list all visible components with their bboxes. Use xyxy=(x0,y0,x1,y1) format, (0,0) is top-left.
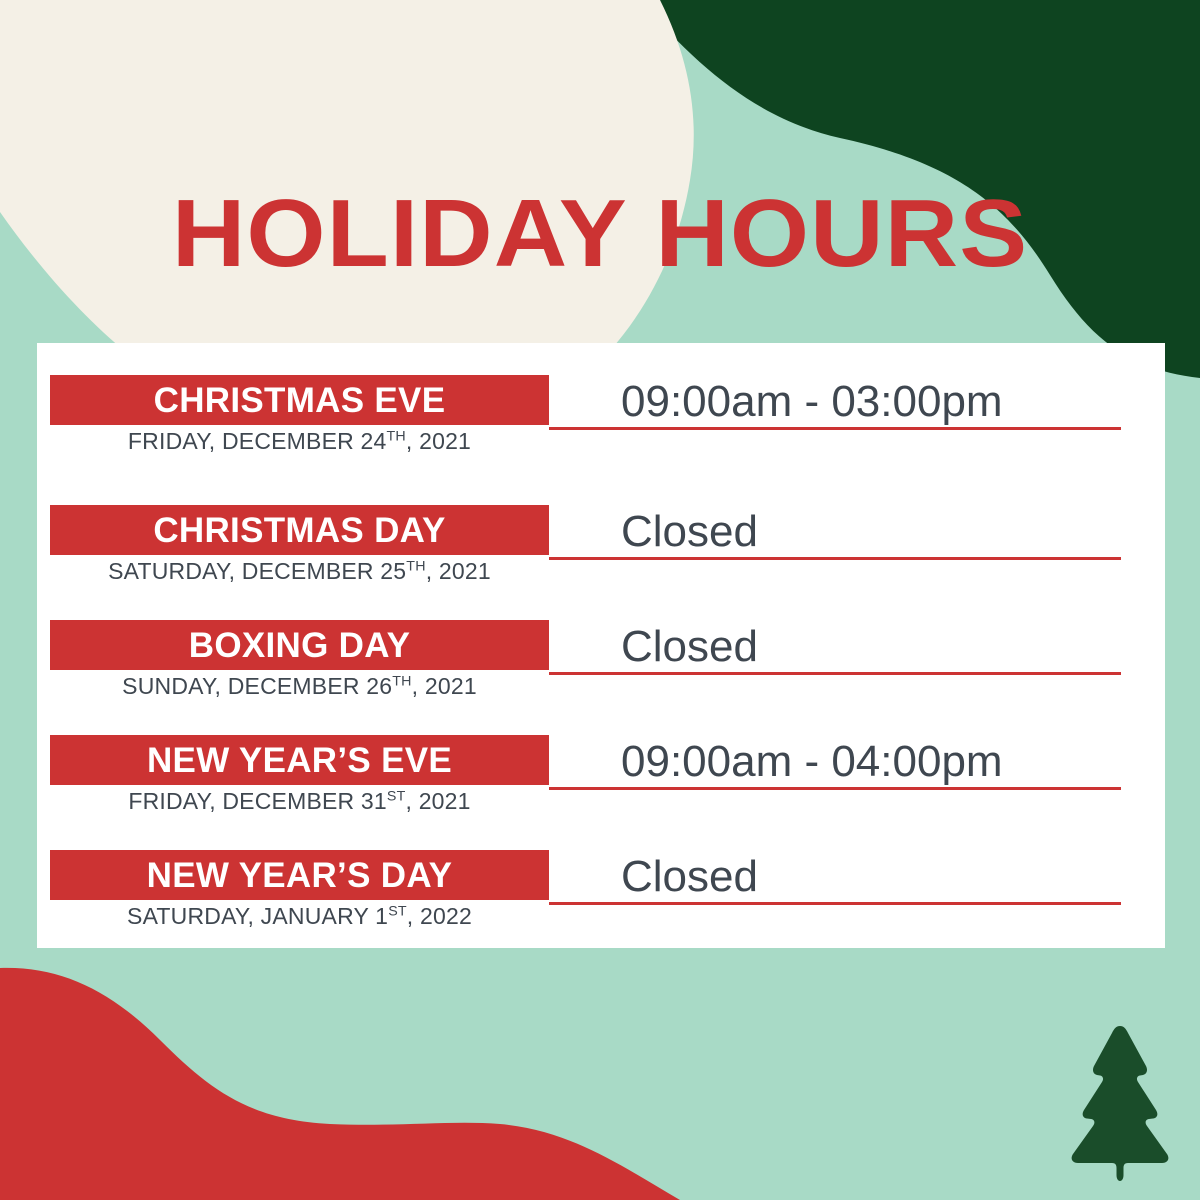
holiday-hours-poster: HOLIDAY HOURS CHRISTMAS EVE FRIDAY, DECE… xyxy=(0,0,1200,1200)
holiday-date-ordinal: ST xyxy=(388,903,407,919)
holiday-name-bar: BOXING DAY xyxy=(50,620,549,670)
holiday-date-ordinal: TH xyxy=(406,558,425,574)
holiday-date-suffix: , 2021 xyxy=(426,558,491,584)
holiday-name-bar: CHRISTMAS EVE xyxy=(50,375,549,425)
holiday-name: CHRISTMAS DAY xyxy=(153,513,445,548)
holiday-date-ordinal: ST xyxy=(387,788,406,804)
christmas-tree-icon xyxy=(1060,1022,1180,1182)
holiday-date: SATURDAY, JANUARY 1ST, 2022 xyxy=(50,902,549,931)
holiday-hours: 09:00am - 03:00pm xyxy=(621,379,1003,425)
holiday-date: FRIDAY, DECEMBER 31ST, 2021 xyxy=(50,787,549,816)
holiday-hours-field: Closed xyxy=(549,620,1121,675)
holiday-name-bar: CHRISTMAS DAY xyxy=(50,505,549,555)
holiday-date-prefix: SATURDAY, JANUARY 1 xyxy=(127,903,388,929)
holiday-hours-field: Closed xyxy=(549,850,1121,905)
holiday-hours-field: 09:00am - 03:00pm xyxy=(549,375,1121,430)
schedule-row: BOXING DAY SUNDAY, DECEMBER 26TH, 2021 C… xyxy=(37,620,1165,730)
holiday-date-prefix: SATURDAY, DECEMBER 25 xyxy=(108,558,406,584)
holiday-date-prefix: SUNDAY, DECEMBER 26 xyxy=(122,673,392,699)
holiday-name: BOXING DAY xyxy=(189,628,410,663)
page-title: HOLIDAY HOURS xyxy=(0,186,1200,282)
holiday-name: NEW YEAR’S EVE xyxy=(147,743,452,778)
holiday-date-ordinal: TH xyxy=(392,673,411,689)
holiday-date: FRIDAY, DECEMBER 24TH, 2021 xyxy=(50,427,549,456)
schedule-rows: CHRISTMAS EVE FRIDAY, DECEMBER 24TH, 202… xyxy=(37,343,1165,948)
holiday-date: SATURDAY, DECEMBER 25TH, 2021 xyxy=(50,557,549,586)
holiday-date-suffix: , 2021 xyxy=(406,788,471,814)
holiday-date-suffix: , 2021 xyxy=(406,428,471,454)
holiday-hours: 09:00am - 04:00pm xyxy=(621,739,1003,785)
holiday-date-suffix: , 2022 xyxy=(407,903,472,929)
holiday-date: SUNDAY, DECEMBER 26TH, 2021 xyxy=(50,672,549,701)
holiday-hours-field: Closed xyxy=(549,505,1121,560)
holiday-date-prefix: FRIDAY, DECEMBER 31 xyxy=(128,788,387,814)
holiday-hours-field: 09:00am - 04:00pm xyxy=(549,735,1121,790)
schedule-card: CHRISTMAS EVE FRIDAY, DECEMBER 24TH, 202… xyxy=(37,343,1165,948)
holiday-name: NEW YEAR’S DAY xyxy=(147,858,453,893)
holiday-hours: Closed xyxy=(621,509,758,555)
holiday-name-bar: NEW YEAR’S DAY xyxy=(50,850,549,900)
holiday-name-bar: NEW YEAR’S EVE xyxy=(50,735,549,785)
holiday-date-suffix: , 2021 xyxy=(412,673,477,699)
schedule-row: NEW YEAR’S EVE FRIDAY, DECEMBER 31ST, 20… xyxy=(37,735,1165,845)
schedule-row: CHRISTMAS EVE FRIDAY, DECEMBER 24TH, 202… xyxy=(37,375,1165,485)
holiday-date-prefix: FRIDAY, DECEMBER 24 xyxy=(128,428,387,454)
holiday-date-ordinal: TH xyxy=(387,428,406,444)
schedule-row: NEW YEAR’S DAY SATURDAY, JANUARY 1ST, 20… xyxy=(37,850,1165,960)
holiday-name: CHRISTMAS EVE xyxy=(154,383,446,418)
holiday-hours: Closed xyxy=(621,624,758,670)
schedule-row: CHRISTMAS DAY SATURDAY, DECEMBER 25TH, 2… xyxy=(37,505,1165,615)
holiday-hours: Closed xyxy=(621,854,758,900)
